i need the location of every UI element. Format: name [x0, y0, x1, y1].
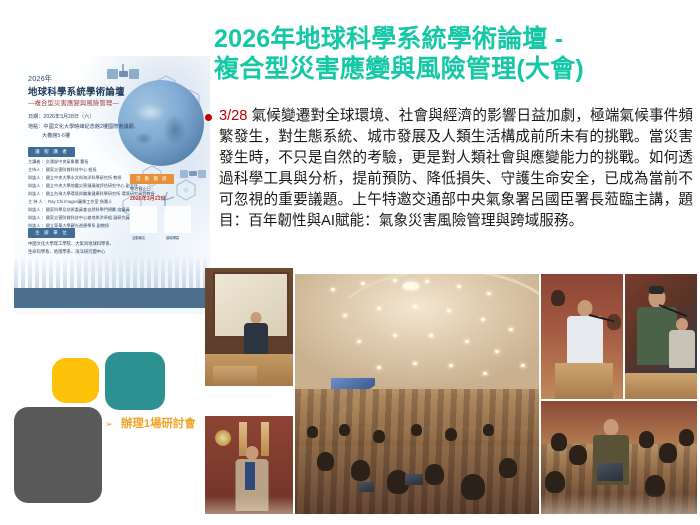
arrow-bullet-icon: ➢: [105, 416, 113, 431]
person-figure: [567, 300, 603, 362]
qr-code-website[interactable]: [164, 206, 191, 233]
poster-organizer-line-1: 中國文化大學理工學院、大氣與地球科學系、: [28, 241, 114, 247]
poster-speaker-row: 與談人 ：國家災害防救科技中心坡地與洪旱組 副研究員: [28, 215, 130, 221]
photo-speaker-podium: [205, 268, 293, 386]
poster-speakers-badge: 議 程 講 者: [28, 147, 75, 157]
poster-deadline-label: 報名截止日：: [130, 186, 155, 192]
person-figure: [669, 318, 695, 366]
bullet-point-icon: [205, 114, 212, 121]
decorative-square-teal: [105, 352, 165, 410]
poster-speaker-row: 主持人 ：國家災害防救科技中心 組長: [28, 167, 97, 173]
poster-speaker-row: 主講者 ：交通部中央氣象署 署長: [28, 159, 88, 165]
note-block: ➢ 辦理1場研討會: [105, 415, 197, 433]
slide-title: 2026年地球科學系統學術論壇 - 複合型災害應變與風險管理(大會): [214, 24, 692, 84]
decorative-square-gray: [14, 407, 102, 503]
event-poster-image: 2026年 地球科學系統學術論壇 —複合型災害應變與風險管理— 日期：2026年…: [14, 56, 210, 314]
poster-event-info-badge: 活 動 資 訊: [130, 174, 174, 184]
slide-canvas: 2026年 地球科學系統學術論壇 —複合型災害應變與風險管理— 日期：2026年…: [0, 0, 700, 525]
qr-caption-website: 論壇網頁: [166, 235, 179, 240]
body-paragraph-text: 氣候變遷對全球環境、社會與經濟的影響日益加劇，極端氣候事件頻繁發生，對生態系統、…: [219, 108, 693, 229]
poster-speaker-row: 主 持 人 ：Ray Chi Images圖像工作室 負責人: [28, 199, 112, 205]
poster-organizers-badge: 主 辦 單 位: [28, 228, 75, 238]
decorative-square-yellow: [52, 358, 99, 403]
poster-organizer-line-2: 生命科學系、地理學系、海洋研究團中心: [28, 249, 105, 255]
slide-title-line-1: 2026年地球科學系統學術論壇 -: [214, 24, 692, 54]
poster-speaker-row: 與談人 ：國立中央大學水文與海洋科學研究所 教授: [28, 175, 122, 181]
poster-venue-line-1: 地點：中國文化大學曉峰紀念館2樓國際會議廳、: [28, 123, 139, 130]
poster-deadline-date: 2026年3月21日: [130, 195, 166, 202]
poster-venue-line-2: 大義館5-6樓: [42, 132, 70, 139]
slide-title-line-2: 複合型災害應變與風險管理(大會): [214, 54, 692, 84]
poster-subtitle: —複合型災害應變與風險管理—: [28, 98, 119, 107]
poster-footer-bar: [14, 288, 210, 308]
poster-title: 地球科學系統學術論壇: [28, 84, 125, 98]
poster-year: 2026年: [28, 74, 52, 84]
note-text: 辦理1場研討會: [121, 415, 197, 433]
date-tag: 3/28: [219, 108, 247, 124]
photo-speaker-smiling: [205, 416, 293, 514]
body-paragraph-block: 3/28 氣候變遷對全球環境、社會與經濟的影響日益加劇，極端氣候事件頻繁發生，對…: [205, 106, 693, 232]
poster-date-line: 日期：2026年3月28日（六）: [28, 113, 94, 120]
photo-panelist-masked: [625, 274, 697, 399]
photo-auditorium-wide: [295, 274, 539, 514]
qr-caption-registration: 活動報名: [132, 235, 145, 240]
photo-panelist-seated: [541, 274, 623, 399]
photo-collage: [205, 266, 697, 518]
qr-code-registration[interactable]: [130, 206, 157, 233]
body-paragraph: 3/28 氣候變遷對全球環境、社會與經濟的影響日益加劇，極端氣候事件頻繁發生，對…: [219, 106, 693, 232]
poster-speaker-row: 與談人 ：國立中央大學地震災害鏈風險評估研究中心 副主任: [28, 183, 138, 189]
poster-speaker-row: 與談人 ：國家科學及技術委員會自然科學門規劃 諮議員: [28, 207, 130, 213]
poster-skyline-graphic: [14, 258, 210, 288]
photo-audience-discussion: [541, 401, 697, 514]
